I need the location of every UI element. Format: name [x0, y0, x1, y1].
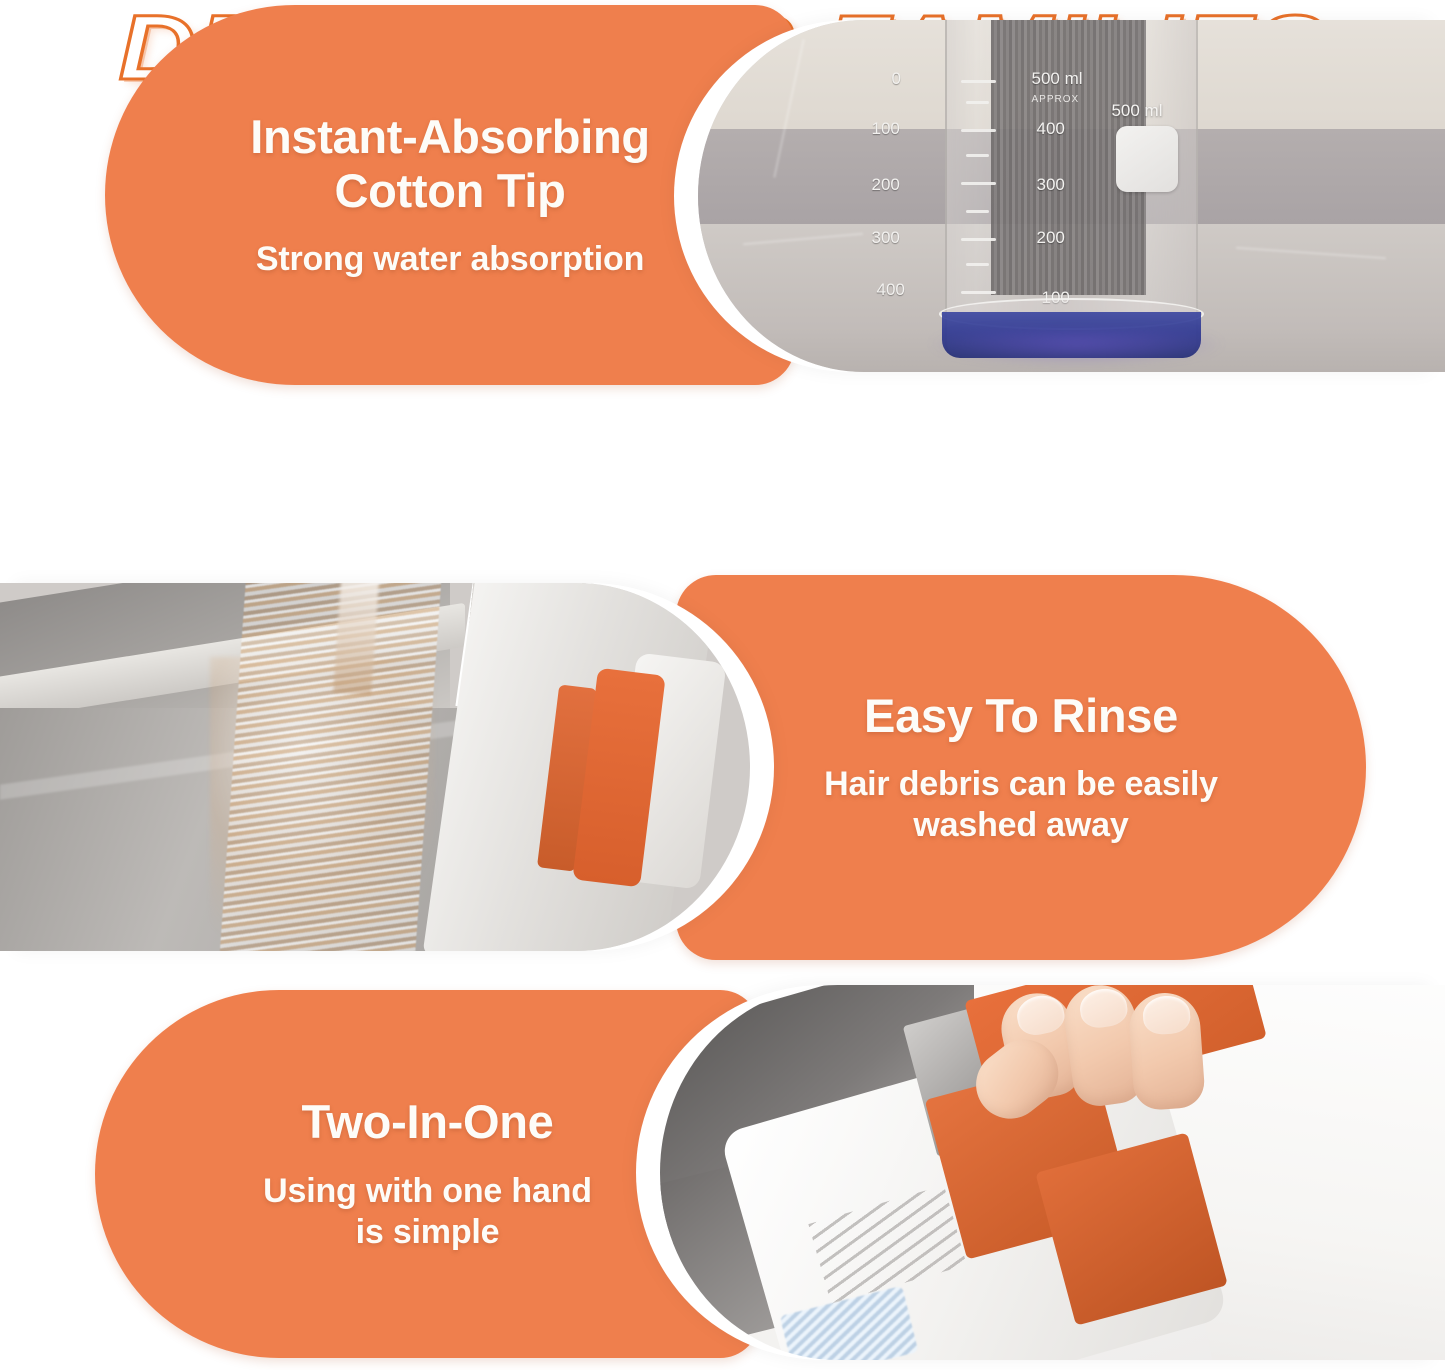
- card-subtitle: Hair debris can be easily washed away: [824, 764, 1218, 846]
- pill-text-block: Two-In-One Using with one hand is simple: [237, 1095, 618, 1252]
- card-heading: Two-In-One: [263, 1095, 592, 1149]
- tick: [961, 291, 996, 294]
- feature-card-two-in-one: Two-In-One Using with one hand is simple: [0, 985, 1445, 1365]
- pill-text-block: Easy To Rinse Hair debris can be easily …: [798, 689, 1244, 846]
- tick: [966, 263, 988, 266]
- scale-approx: APPROX: [1031, 94, 1079, 105]
- scale-left-0: 0: [892, 69, 901, 89]
- rinse-scene: [0, 583, 750, 951]
- tick: [961, 182, 996, 185]
- measuring-beaker-photo: 0 100 200 300 400 500 ml APP: [688, 20, 1445, 372]
- pill-text-block: Instant-Absorbing Cotton Tip Strong wate…: [224, 110, 676, 280]
- easy-to-rinse-pill: Easy To Rinse Hair debris can be easily …: [676, 575, 1366, 960]
- one-hand-operation-photo: [650, 985, 1445, 1360]
- water-and-debris: [218, 583, 441, 951]
- tick: [966, 210, 988, 213]
- scale-right-500: 500 ml: [1031, 69, 1082, 89]
- scale-left-100: 100: [872, 119, 900, 139]
- card-subtitle: Using with one hand is simple: [263, 1171, 592, 1253]
- beaker-tag: [1116, 126, 1178, 192]
- tick: [961, 238, 996, 241]
- tick: [966, 154, 988, 157]
- two-in-one-scene: [660, 985, 1445, 1360]
- infographic-page: DESIGN FOR FAMILIES 0 100 200 300 400: [0, 0, 1445, 1370]
- feature-card-instant-absorbing: 0 100 200 300 400 500 ml APP: [0, 0, 1445, 390]
- tick: [961, 80, 996, 83]
- feature-card-easy-to-rinse: Easy To Rinse Hair debris can be easily …: [0, 575, 1445, 960]
- scale-right-200: 200: [1036, 228, 1064, 248]
- liquid-glow: [927, 330, 1227, 365]
- tick: [966, 101, 988, 104]
- rinsing-mop-head-photo: [0, 583, 760, 951]
- scale-left-400: 400: [877, 280, 905, 300]
- scale-left-300: 300: [872, 228, 900, 248]
- scale-left-200: 200: [872, 175, 900, 195]
- card-heading: Easy To Rinse: [824, 689, 1218, 743]
- glass-beaker: 0 100 200 300 400 500 ml APP: [945, 20, 1199, 358]
- beaker-tag-label: 500 ml: [1111, 101, 1162, 121]
- scale-right-400: 400: [1036, 119, 1064, 139]
- card-heading: Instant-Absorbing Cotton Tip: [250, 110, 650, 217]
- beaker-scene: 0 100 200 300 400 500 ml APP: [698, 20, 1445, 372]
- card-subtitle: Strong water absorption: [250, 239, 650, 280]
- scale-right-300: 300: [1036, 175, 1064, 195]
- tick: [961, 129, 996, 132]
